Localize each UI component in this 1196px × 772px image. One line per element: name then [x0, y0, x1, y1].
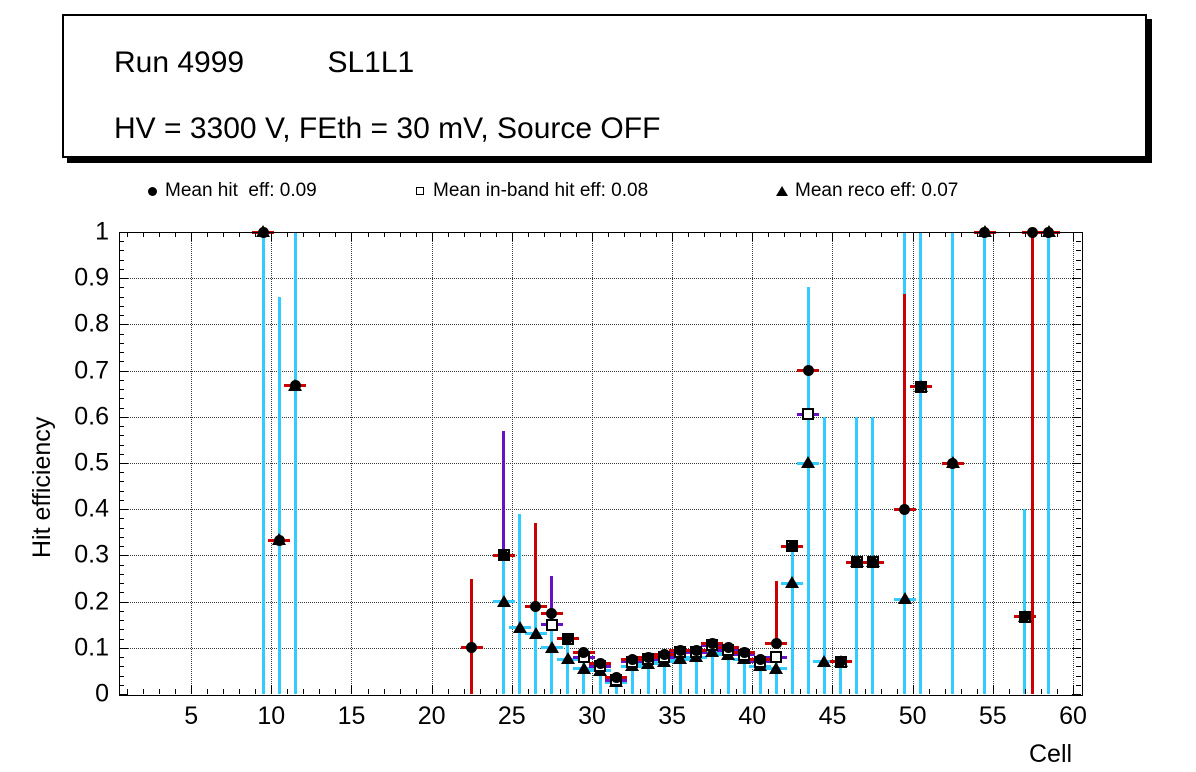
y-axis-tick-major-right — [1072, 648, 1081, 649]
title-box: Run 4999 SL1L1 HV = 3300 V, FEth = 30 mV… — [62, 14, 1147, 158]
filled-circle-marker — [139, 187, 165, 196]
x-axis-tick-minor — [929, 689, 930, 694]
x-axis-tick-minor — [961, 689, 962, 694]
y-axis-tick-minor-right — [1076, 537, 1081, 538]
y-axis-tick-label: 0.5 — [49, 449, 109, 478]
x-axis-tick-minor — [897, 689, 898, 694]
y-axis-tick-major — [119, 602, 128, 603]
x-axis-tick-minor — [400, 689, 401, 694]
y-axis-tick-minor — [119, 241, 124, 242]
y-axis-tick-minor-right — [1076, 435, 1081, 436]
y-axis-tick-minor-right — [1076, 250, 1081, 251]
x-axis-tick-minor — [368, 689, 369, 694]
y-axis-tick-major — [119, 278, 128, 279]
axes-layer — [119, 232, 1081, 694]
y-axis-tick-minor — [119, 352, 124, 353]
x-axis-tick-minor-top — [287, 232, 288, 237]
plot-canvas: Run 4999 SL1L1 HV = 3300 V, FEth = 30 mV… — [0, 0, 1196, 772]
x-axis-tick-major — [432, 685, 433, 694]
open-square-marker-glyph — [416, 187, 424, 195]
y-axis-tick-major-right — [1072, 324, 1081, 325]
x-axis-tick-minor — [335, 689, 336, 694]
y-axis-tick-minor-right — [1076, 472, 1081, 473]
x-axis-tick-minor-top — [768, 232, 769, 237]
x-axis-tick-major-top — [752, 232, 753, 241]
x-axis-tick-minor-top — [608, 232, 609, 237]
x-axis-tick-minor — [865, 689, 866, 694]
x-axis-tick-major-top — [672, 232, 673, 241]
x-axis-tick-minor — [688, 689, 689, 694]
y-axis-tick-minor-right — [1076, 398, 1081, 399]
x-axis-tick-minor-top — [849, 232, 850, 237]
x-axis-tick-minor — [576, 689, 577, 694]
x-axis-tick-minor-top — [1009, 232, 1010, 237]
y-axis-tick-label: 0.9 — [49, 264, 109, 293]
x-axis-tick-major-top — [913, 232, 914, 241]
x-axis-tick-minor — [287, 689, 288, 694]
y-axis-tick-major-right — [1072, 602, 1081, 603]
x-axis-tick-minor-top — [303, 232, 304, 237]
y-axis-tick-minor-right — [1076, 408, 1081, 409]
y-axis-tick-label: 0.7 — [49, 356, 109, 385]
x-axis-tick-minor-top — [239, 232, 240, 237]
y-axis-tick-label: 0.6 — [49, 402, 109, 431]
x-axis-tick-minor — [416, 689, 417, 694]
y-axis-tick-minor-right — [1076, 546, 1081, 547]
x-axis-tick-label: 25 — [498, 702, 526, 731]
y-axis-tick-minor-right — [1076, 611, 1081, 612]
x-axis-tick-major-top — [271, 232, 272, 241]
x-axis-tick-minor — [319, 689, 320, 694]
y-axis-tick-major-right — [1072, 694, 1081, 695]
x-axis-tick-label: 10 — [257, 702, 285, 731]
x-axis-tick-minor — [849, 689, 850, 694]
x-axis-tick-minor — [881, 689, 882, 694]
y-axis-tick-minor-right — [1076, 491, 1081, 492]
y-axis-tick-label: 1 — [49, 218, 109, 247]
x-axis-tick-minor — [384, 689, 385, 694]
y-axis-tick-major-right — [1072, 463, 1081, 464]
y-axis-tick-label: 0.2 — [49, 587, 109, 616]
y-axis-tick-minor-right — [1076, 361, 1081, 362]
y-axis-tick-minor-right — [1076, 454, 1081, 455]
y-axis-tick-minor — [119, 666, 124, 667]
run-title-line: Run 4999 SL1L1 — [114, 46, 414, 80]
x-axis-tick-label: 40 — [738, 702, 766, 731]
x-axis-tick-minor — [480, 689, 481, 694]
x-axis-tick-minor — [704, 689, 705, 694]
x-axis-tick-major-top — [592, 232, 593, 241]
y-axis-tick-minor-right — [1076, 500, 1081, 501]
x-axis-tick-major — [913, 685, 914, 694]
y-axis-tick-minor — [119, 639, 124, 640]
x-axis-tick-minor — [175, 689, 176, 694]
x-axis-tick-minor-top — [865, 232, 866, 237]
x-axis-tick-minor-top — [1057, 232, 1058, 237]
y-axis-tick-major-right — [1072, 417, 1081, 418]
x-axis-tick-minor — [800, 689, 801, 694]
legend-entry-2: Mean reco eff: 0.07 — [769, 168, 958, 214]
y-axis-tick-minor-right — [1076, 389, 1081, 390]
x-axis-tick-label: 15 — [338, 702, 366, 731]
x-axis-tick-label: 50 — [899, 702, 927, 731]
x-axis-tick-minor — [784, 689, 785, 694]
y-axis-tick-minor — [119, 611, 124, 612]
y-axis-tick-minor-right — [1076, 666, 1081, 667]
x-axis-tick-label: 20 — [418, 702, 446, 731]
x-axis-tick-minor — [1041, 689, 1042, 694]
x-axis-tick-minor-top — [816, 232, 817, 237]
y-axis-tick-minor-right — [1076, 352, 1081, 353]
y-axis-tick-major — [119, 694, 128, 695]
x-axis-tick-label: 35 — [658, 702, 686, 731]
y-axis-tick-minor-right — [1076, 380, 1081, 381]
x-axis-tick-major — [993, 685, 994, 694]
legend-entry-label: Mean in-band hit eff: 0.08 — [433, 180, 648, 202]
y-axis-tick-minor — [119, 583, 124, 584]
x-axis-tick-minor — [303, 689, 304, 694]
y-axis-tick-minor — [119, 250, 124, 251]
y-axis-tick-major-right — [1072, 232, 1081, 233]
x-axis-tick-minor — [1009, 689, 1010, 694]
x-axis-tick-major — [592, 685, 593, 694]
x-axis-tick-label: 55 — [979, 702, 1007, 731]
x-axis-tick-minor-top — [448, 232, 449, 237]
y-axis-tick-minor — [119, 315, 124, 316]
x-axis-tick-minor-top — [560, 232, 561, 237]
y-axis-tick-minor — [119, 361, 124, 362]
x-axis-title: Cell — [1029, 740, 1072, 769]
x-axis-tick-major — [512, 685, 513, 694]
y-axis-tick-minor-right — [1076, 583, 1081, 584]
y-axis-tick-major — [119, 232, 128, 233]
x-axis-tick-major-top — [1073, 232, 1074, 241]
y-axis-tick-minor — [119, 426, 124, 427]
x-axis-tick-minor-top — [528, 232, 529, 237]
x-axis-tick-minor — [608, 689, 609, 694]
y-axis-tick-minor-right — [1076, 574, 1081, 575]
y-axis-tick-minor — [119, 481, 124, 482]
x-axis-tick-minor-top — [961, 232, 962, 237]
y-axis-tick-minor — [119, 306, 124, 307]
x-axis-tick-minor — [1057, 689, 1058, 694]
x-axis-tick-minor — [207, 689, 208, 694]
x-axis-tick-minor — [768, 689, 769, 694]
y-axis-tick-major — [119, 555, 128, 556]
y-axis-tick-minor — [119, 491, 124, 492]
legend: Mean hit eff: 0.09Mean in-band hit eff: … — [119, 168, 1081, 214]
y-axis-tick-minor — [119, 408, 124, 409]
x-axis-tick-major — [271, 685, 272, 694]
y-axis-tick-minor — [119, 260, 124, 261]
y-axis-tick-minor-right — [1076, 306, 1081, 307]
filled-triangle-marker-glyph — [776, 186, 788, 196]
x-axis-tick-minor-top — [496, 232, 497, 237]
x-axis-tick-label: 45 — [819, 702, 847, 731]
x-axis-tick-minor — [528, 689, 529, 694]
y-axis-tick-minor-right — [1076, 565, 1081, 566]
x-axis-tick-minor — [736, 689, 737, 694]
y-axis-tick-major — [119, 648, 128, 649]
y-axis-tick-major-right — [1072, 555, 1081, 556]
x-axis-tick-minor-top — [255, 232, 256, 237]
legend-entry-label: Mean reco eff: 0.07 — [795, 180, 958, 202]
x-axis-tick-minor — [1025, 689, 1026, 694]
y-axis-tick-minor — [119, 445, 124, 446]
x-axis-tick-major — [672, 685, 673, 694]
y-axis-tick-minor-right — [1076, 260, 1081, 261]
y-axis-tick-minor — [119, 334, 124, 335]
y-axis-tick-minor — [119, 269, 124, 270]
y-axis-tick-minor-right — [1076, 676, 1081, 677]
x-axis-tick-minor-top — [368, 232, 369, 237]
x-axis-tick-minor-top — [929, 232, 930, 237]
x-axis-tick-minor-top — [335, 232, 336, 237]
x-axis-tick-minor-top — [464, 232, 465, 237]
y-axis-tick-minor-right — [1076, 629, 1081, 630]
x-axis-tick-major — [191, 685, 192, 694]
x-axis-tick-minor — [159, 689, 160, 694]
x-axis-tick-minor — [720, 689, 721, 694]
y-axis-tick-major — [119, 463, 128, 464]
x-axis-tick-major-top — [512, 232, 513, 241]
y-axis-tick-minor — [119, 454, 124, 455]
y-axis-tick-minor-right — [1076, 269, 1081, 270]
y-axis-tick-minor-right — [1076, 315, 1081, 316]
filled-circle-marker-glyph — [148, 187, 157, 196]
y-axis-tick-major — [119, 509, 128, 510]
legend-entry-0: Mean hit eff: 0.09 — [139, 168, 317, 214]
x-axis-tick-minor-top — [881, 232, 882, 237]
y-axis-tick-minor-right — [1076, 639, 1081, 640]
x-axis-tick-minor-top — [656, 232, 657, 237]
y-axis-tick-minor — [119, 500, 124, 501]
x-axis-tick-major — [1073, 685, 1074, 694]
x-axis-tick-minor-top — [1025, 232, 1026, 237]
y-axis-tick-minor-right — [1076, 343, 1081, 344]
x-axis-tick-minor-top — [544, 232, 545, 237]
x-axis-tick-minor-top — [945, 232, 946, 237]
x-axis-tick-minor — [977, 689, 978, 694]
x-axis-tick-label: 5 — [184, 702, 198, 731]
x-axis-tick-minor-top — [736, 232, 737, 237]
y-axis-tick-minor-right — [1076, 518, 1081, 519]
x-axis-tick-major — [351, 685, 352, 694]
x-axis-tick-major-top — [351, 232, 352, 241]
y-axis-tick-minor-right — [1076, 426, 1081, 427]
y-axis-tick-minor — [119, 537, 124, 538]
x-axis-tick-minor-top — [223, 232, 224, 237]
x-axis-tick-minor — [448, 689, 449, 694]
x-axis-tick-minor-top — [624, 232, 625, 237]
x-axis-tick-minor-top — [319, 232, 320, 237]
x-axis-tick-minor-top — [688, 232, 689, 237]
x-axis-tick-minor-top — [897, 232, 898, 237]
y-axis-tick-minor — [119, 565, 124, 566]
x-axis-tick-major-top — [832, 232, 833, 241]
x-axis-tick-minor — [464, 689, 465, 694]
open-square-marker — [407, 187, 433, 195]
x-axis-tick-label: 60 — [1059, 702, 1087, 731]
y-axis-tick-minor-right — [1076, 528, 1081, 529]
y-axis-tick-minor — [119, 546, 124, 547]
y-axis-tick-minor — [119, 472, 124, 473]
x-axis-tick-minor-top — [175, 232, 176, 237]
y-axis-tick-minor-right — [1076, 297, 1081, 298]
x-axis-tick-minor-top — [416, 232, 417, 237]
y-axis-tick-minor — [119, 343, 124, 344]
x-axis-tick-minor — [945, 689, 946, 694]
y-axis-tick-major — [119, 324, 128, 325]
y-axis-tick-minor-right — [1076, 481, 1081, 482]
y-axis-tick-minor — [119, 574, 124, 575]
y-axis-tick-minor — [119, 518, 124, 519]
x-axis-tick-label: 30 — [578, 702, 606, 731]
y-axis-tick-minor — [119, 528, 124, 529]
y-axis-tick-minor — [119, 398, 124, 399]
y-axis-tick-minor — [119, 629, 124, 630]
y-axis-tick-minor-right — [1076, 241, 1081, 242]
y-axis-tick-minor — [119, 287, 124, 288]
x-axis-tick-minor — [143, 689, 144, 694]
x-axis-tick-minor-top — [159, 232, 160, 237]
x-axis-tick-minor — [223, 689, 224, 694]
y-axis-tick-minor-right — [1076, 592, 1081, 593]
y-axis-tick-minor — [119, 592, 124, 593]
x-axis-tick-major — [832, 685, 833, 694]
y-axis-tick-label: 0 — [49, 680, 109, 709]
y-axis-tick-major-right — [1072, 509, 1081, 510]
y-axis-tick-minor — [119, 620, 124, 621]
y-axis-tick-label: 0.3 — [49, 541, 109, 570]
x-axis-tick-minor-top — [784, 232, 785, 237]
x-axis-tick-minor — [816, 689, 817, 694]
filled-triangle-marker — [769, 186, 795, 196]
x-axis-tick-minor — [624, 689, 625, 694]
y-axis-tick-minor-right — [1076, 445, 1081, 446]
y-axis-title: Hit efficiency — [28, 417, 57, 558]
x-axis-tick-minor — [255, 689, 256, 694]
x-axis-tick-major-top — [993, 232, 994, 241]
y-axis-tick-minor — [119, 685, 124, 686]
x-axis-tick-minor-top — [400, 232, 401, 237]
y-axis-tick-minor — [119, 676, 124, 677]
x-axis-tick-minor-top — [640, 232, 641, 237]
x-axis-tick-minor — [544, 689, 545, 694]
x-axis-tick-minor-top — [704, 232, 705, 237]
x-axis-tick-minor-top — [207, 232, 208, 237]
y-axis-tick-minor — [119, 380, 124, 381]
y-axis-tick-label: 0.1 — [49, 633, 109, 662]
x-axis-tick-minor-top — [977, 232, 978, 237]
y-axis-tick-minor — [119, 389, 124, 390]
y-axis-tick-major — [119, 371, 128, 372]
y-axis-tick-minor-right — [1076, 620, 1081, 621]
x-axis-tick-minor-top — [1041, 232, 1042, 237]
x-axis-tick-major — [752, 685, 753, 694]
y-axis-tick-minor — [119, 657, 124, 658]
x-axis-tick-minor-top — [384, 232, 385, 237]
x-axis-tick-minor — [640, 689, 641, 694]
y-axis-tick-minor — [119, 297, 124, 298]
x-axis-tick-minor-top — [800, 232, 801, 237]
y-axis-tick-minor-right — [1076, 287, 1081, 288]
x-axis-tick-minor-top — [576, 232, 577, 237]
x-axis-tick-major-top — [432, 232, 433, 241]
legend-entry-label: Mean hit eff: 0.09 — [165, 180, 317, 202]
conditions-title-line: HV = 3300 V, FEth = 30 mV, Source OFF — [114, 112, 660, 146]
x-axis-tick-minor — [560, 689, 561, 694]
x-axis-tick-minor-top — [143, 232, 144, 237]
x-axis-tick-major-top — [191, 232, 192, 241]
x-axis-tick-minor — [496, 689, 497, 694]
y-axis-tick-label: 0.4 — [49, 495, 109, 524]
x-axis-tick-minor — [239, 689, 240, 694]
y-axis-tick-minor-right — [1076, 657, 1081, 658]
y-axis-tick-label: 0.8 — [49, 310, 109, 339]
y-axis-tick-major — [119, 417, 128, 418]
x-axis-tick-minor-top — [480, 232, 481, 237]
y-axis-tick-major-right — [1072, 371, 1081, 372]
y-axis-tick-minor — [119, 435, 124, 436]
x-axis-tick-minor-top — [720, 232, 721, 237]
y-axis-tick-major-right — [1072, 278, 1081, 279]
legend-entry-1: Mean in-band hit eff: 0.08 — [407, 168, 648, 214]
y-axis-tick-minor-right — [1076, 334, 1081, 335]
x-axis-tick-minor — [656, 689, 657, 694]
y-axis-tick-minor-right — [1076, 685, 1081, 686]
